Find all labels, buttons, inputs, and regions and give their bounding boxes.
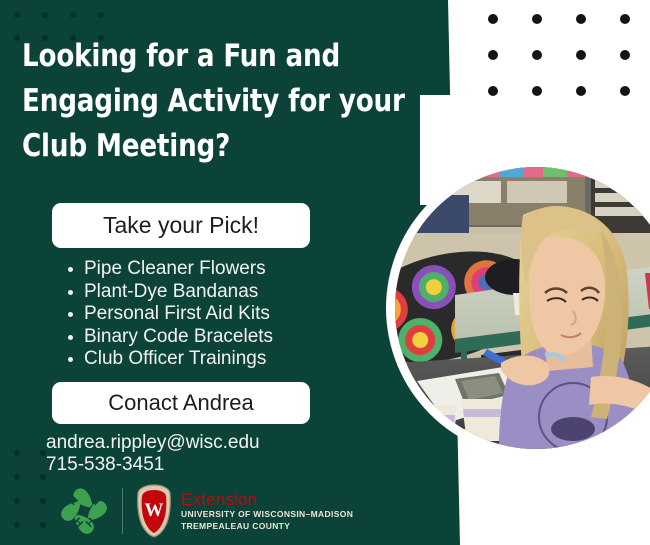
list-item: Club Officer Trainings xyxy=(84,348,414,371)
uw-extension-logo: W Extension UNIVERSITY OF WISCONSIN–MADI… xyxy=(135,484,353,538)
extension-county-line: TREMPEALEAU COUNTY xyxy=(181,521,353,533)
decor-dot xyxy=(14,450,20,456)
decor-dot xyxy=(14,12,20,18)
headline-line-1: Looking for a Fun and xyxy=(22,34,398,79)
contact-info: andrea.rippley@wisc.edu 715-538-3451 xyxy=(46,432,376,476)
contact-phone[interactable]: 715-538-3451 xyxy=(46,454,376,476)
list-item: Plant-Dye Bandanas xyxy=(84,281,414,304)
crest-letter: W xyxy=(145,500,164,521)
decor-dot xyxy=(40,522,46,528)
decor-dot xyxy=(14,474,20,480)
list-item: Personal First Aid Kits xyxy=(84,303,414,326)
activity-photo xyxy=(395,167,650,449)
take-your-pick-button[interactable]: Take your Pick! xyxy=(52,203,310,248)
decor-dot xyxy=(14,498,20,504)
decor-dot xyxy=(488,50,498,60)
decor-dot xyxy=(532,86,542,96)
decor-dot xyxy=(40,498,46,504)
logo-divider xyxy=(122,488,123,534)
decor-dot xyxy=(620,50,630,60)
uw-extension-text: Extension UNIVERSITY OF WISCONSIN–MADISO… xyxy=(181,490,353,532)
decor-dot xyxy=(620,86,630,96)
decor-dot xyxy=(98,12,104,18)
photo-clip xyxy=(395,167,650,449)
decor-dot xyxy=(42,12,48,18)
photo-frame xyxy=(386,158,650,458)
decor-dot xyxy=(14,522,20,528)
decor-dot xyxy=(576,86,586,96)
decor-dot xyxy=(532,50,542,60)
take-your-pick-label: Take your Pick! xyxy=(103,212,259,239)
uw-crest-icon: W xyxy=(135,484,173,538)
decor-dot xyxy=(532,14,542,24)
extension-university-line: UNIVERSITY OF WISCONSIN–MADISON xyxy=(181,509,353,521)
decor-dot xyxy=(576,50,586,60)
decor-dot xyxy=(14,35,20,41)
headline-line-2: Engaging Activity for your xyxy=(22,79,398,124)
decor-dot xyxy=(576,14,586,24)
footer-logos: H H H H W Extension UNIVERSITY OF WISCON… xyxy=(56,482,353,540)
decor-dot xyxy=(620,14,630,24)
poster-canvas: Looking for a Fun and Engaging Activity … xyxy=(0,0,650,545)
headline-line-3: Club Meeting? xyxy=(22,124,398,169)
contact-email[interactable]: andrea.rippley@wisc.edu xyxy=(46,432,376,454)
contact-andrea-button[interactable]: Conact Andrea xyxy=(52,382,310,424)
list-item: Binary Code Bracelets xyxy=(84,326,414,349)
decor-dot xyxy=(488,86,498,96)
extension-title: Extension xyxy=(181,490,353,509)
decor-dot xyxy=(488,14,498,24)
activity-list: Pipe Cleaner Flowers Plant-Dye Bandanas … xyxy=(62,258,414,371)
four-h-clover-icon: H H H H xyxy=(56,483,112,539)
list-item: Pipe Cleaner Flowers xyxy=(84,258,414,281)
decor-dot xyxy=(70,12,76,18)
contact-andrea-label: Conact Andrea xyxy=(108,390,254,416)
headline: Looking for a Fun and Engaging Activity … xyxy=(22,34,398,169)
dot-grid-top-right xyxy=(488,14,650,122)
